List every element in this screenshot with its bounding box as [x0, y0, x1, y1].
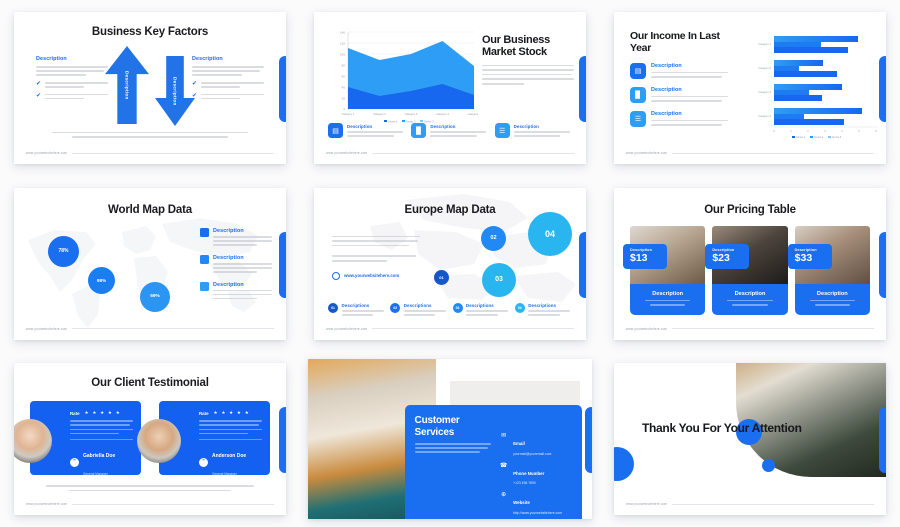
slide-footer: www.yourwebsitehere.com: [326, 151, 574, 155]
slide-thank-you[interactable]: Thank You For Your Attention www.yourweb…: [614, 363, 886, 515]
envelope-icon: ✉: [499, 432, 508, 441]
left-description-column: Description ✔ ✔: [36, 56, 108, 99]
area-chart: 140120 10080 6040 200 Category 1Category…: [328, 24, 478, 128]
edge-tab-decoration: [579, 56, 586, 122]
slide-cell-5: Europe Map Data www.yourwebsitehere.com …: [300, 176, 600, 352]
avatar: [137, 419, 181, 463]
slide-footer: www.yourwebsitehere.com: [626, 151, 874, 155]
svg-text:Category 4: Category 4: [436, 112, 449, 116]
contact-label: Phone Number: [513, 471, 544, 476]
svg-text:Category 2: Category 2: [758, 66, 771, 70]
slide-cell-2: 140120 10080 6040 200 Category 1Category…: [300, 0, 600, 176]
phone-icon: ☎: [499, 462, 508, 471]
page-title: Thank You For Your Attention: [642, 421, 802, 437]
slide-footer: www.yourwebsitehere.com: [626, 327, 874, 331]
number-bubble-label: 02: [490, 235, 496, 241]
price-tag-label: Description: [630, 248, 660, 252]
price-tag-label: Description: [795, 248, 825, 252]
author-name: Gabriella Doe: [83, 453, 115, 459]
data-bubble[interactable]: 69%: [140, 282, 170, 312]
feature-list-item[interactable]: ▤ Description: [630, 63, 728, 79]
number-bubble-01[interactable]: 01: [434, 270, 449, 285]
slide-footnote: [52, 132, 248, 138]
slide-cell-4: World Map Data 78% 98% 69% Description: [0, 176, 300, 352]
svg-text:Category 3: Category 3: [405, 112, 418, 116]
quote-icon: ”: [199, 458, 208, 467]
feature-card-row: ▤ Description ▉ Description ☰: [328, 123, 572, 138]
bottom-description-item[interactable]: 04 Descriptions: [515, 303, 572, 316]
price-tag: Description $33: [788, 244, 832, 269]
page-title: Our Pricing Table: [614, 204, 886, 216]
data-bubble[interactable]: 98%: [88, 267, 115, 294]
globe-icon: [332, 272, 340, 280]
footer-divider: [72, 328, 274, 329]
contact-label: Website: [513, 500, 530, 505]
contact-value: http://www.yourwebsitehere.com: [513, 511, 562, 515]
price-value: $33: [795, 253, 825, 264]
pricing-card[interactable]: Description Description $13: [630, 226, 705, 315]
footer-divider: [672, 153, 874, 154]
star-rating-icon: ★ ★ ★ ★ ★: [214, 410, 251, 416]
slide-cell-1: Business Key Factors Description ✔ ✔: [0, 0, 300, 176]
footer-url: www.yourwebsitehere.com: [26, 327, 67, 331]
right-description-paragraph: [192, 66, 264, 76]
price-tag: Description $23: [705, 244, 749, 269]
bottom-description-item[interactable]: 02 Descriptions: [390, 303, 447, 316]
page-title: World Map Data: [14, 204, 286, 216]
slide-cell-3: Our Income In Last Year ▤ Description ▉ …: [600, 0, 900, 176]
chart-bar-icon: ▉: [411, 123, 426, 138]
legend-item[interactable]: Description: [200, 282, 272, 300]
slide-paragraph-block: www.yourwebsitehere.com: [332, 236, 420, 280]
svg-text:100: 100: [340, 53, 345, 57]
slide-footer: www.yourwebsitehere.com: [26, 502, 274, 506]
data-bubble-value: 78%: [58, 248, 68, 254]
footer-divider: [372, 328, 574, 329]
svg-text:40: 40: [342, 86, 346, 90]
page-title: Our Client Testimonial: [14, 377, 286, 389]
edge-tab-decoration: [279, 407, 286, 473]
arrow-up-label: Description: [125, 71, 130, 100]
bottom-item-number: 02: [390, 303, 400, 313]
slide-our-pricing-table[interactable]: Our Pricing Table Description Descriptio…: [614, 188, 886, 340]
slide-footnote: [46, 485, 254, 491]
chart-bar-icon: ▉: [630, 87, 646, 103]
footer-divider: [672, 328, 874, 329]
presentation-icon: ☰: [495, 123, 510, 138]
quote-icon: ”: [70, 458, 79, 467]
bottom-description-row: 01 Descriptions 02 Descriptions 03: [328, 303, 572, 316]
right-description-column: Description ✔ ✔: [192, 56, 264, 99]
footer-divider: [72, 504, 274, 505]
svg-text:0: 0: [773, 129, 775, 133]
slide-our-client-testimonial[interactable]: Our Client Testimonial Rate ★ ★ ★ ★ ★ ”: [14, 363, 286, 515]
left-checklist-item: ✔: [36, 81, 108, 88]
data-bubble-value: 98%: [97, 278, 106, 283]
circle-decoration: [614, 447, 634, 481]
svg-text:Category 3: Category 3: [758, 90, 771, 94]
number-bubble-label: 04: [545, 229, 555, 239]
edge-tab-decoration: [279, 56, 286, 122]
office-photo: [736, 363, 886, 477]
testimonial-quote: [199, 420, 262, 434]
svg-text:0: 0: [343, 107, 345, 111]
footer-url: www.yourwebsitehere.com: [626, 502, 667, 506]
star-rating-icon: ★ ★ ★ ★ ★: [85, 410, 122, 416]
svg-text:Series 1: Series 1: [796, 136, 806, 139]
slide-customer-services[interactable]: Customer Services ✉ Email yourmail@youre…: [308, 359, 592, 519]
contact-label: Email: [513, 441, 525, 446]
slide-heading-block: Our Income In Last Year ▤ Description ▉ …: [630, 30, 728, 127]
right-description-heading: Description: [192, 56, 264, 62]
bottom-item-number: 03: [453, 303, 463, 313]
footer-url: www.yourwebsitehere.com: [626, 151, 667, 155]
svg-text:Category 2: Category 2: [373, 112, 386, 116]
svg-text:20: 20: [342, 97, 346, 101]
page-title: Customer Services: [415, 415, 492, 438]
feature-heading: Description: [651, 87, 728, 93]
rate-label: Rate: [199, 411, 209, 416]
testimonial-card[interactable]: Rate ★ ★ ★ ★ ★ ” Gabriella Doe General M…: [30, 401, 141, 475]
bottom-item-number: 01: [328, 303, 338, 313]
number-bubble-label: 01: [439, 275, 443, 280]
website-link[interactable]: www.yourwebsitehere.com: [332, 272, 420, 280]
testimonial-quote: [70, 420, 133, 434]
svg-text:Category 4: Category 4: [758, 114, 771, 118]
svg-text:Series 3: Series 3: [832, 136, 842, 139]
rate-label: Rate: [70, 411, 80, 416]
price-value: $23: [712, 253, 742, 264]
bottom-description-item[interactable]: 03 Descriptions: [453, 303, 510, 316]
author-role: General Manager: [83, 472, 108, 476]
slide-our-business-market-stock[interactable]: 140120 10080 6040 200 Category 1Category…: [314, 12, 586, 164]
svg-text:80: 80: [342, 64, 346, 68]
feature-card[interactable]: ▤ Description: [328, 123, 405, 138]
slide-footer: www.yourwebsitehere.com: [26, 327, 274, 331]
edge-tab-decoration: [879, 232, 886, 298]
number-bubble-02[interactable]: 02: [481, 226, 506, 251]
circle-decoration: [762, 459, 775, 472]
svg-text:120: 120: [340, 42, 345, 46]
page-title: Our Business Market Stock: [482, 34, 574, 59]
bottom-item-heading: Descriptions: [342, 303, 386, 308]
svg-text:140: 140: [340, 31, 345, 35]
page-title: Our Income In Last Year: [630, 30, 728, 54]
footer-url: www.yourwebsitehere.com: [326, 151, 367, 155]
svg-text:Series 2: Series 2: [814, 136, 824, 139]
contact-value: +123 456 7890: [513, 481, 544, 485]
footer-url: www.yourwebsitehere.com: [26, 151, 67, 155]
left-description-heading: Description: [36, 56, 108, 62]
feature-card[interactable]: ▉ Description: [411, 123, 488, 138]
presentation-icon: ☰: [630, 111, 646, 127]
price-tag-label: Description: [712, 248, 742, 252]
svg-text:Category 1: Category 1: [342, 112, 355, 116]
slide-cell-9: Thank You For Your Attention www.yourweb…: [600, 351, 900, 527]
number-bubble-04[interactable]: 04: [528, 212, 572, 256]
slide-footer: www.yourwebsitehere.com: [326, 327, 574, 331]
legend-item[interactable]: Description: [200, 255, 272, 273]
data-bubble[interactable]: 78%: [48, 236, 79, 267]
right-checklist-item: ✔: [192, 81, 264, 88]
pricing-card[interactable]: Description Description $23: [712, 226, 787, 315]
slide-footer: www.yourwebsitehere.com: [26, 151, 274, 155]
check-icon: ✔: [192, 93, 197, 99]
feature-list-item[interactable]: ☰ Description: [630, 111, 728, 127]
footer-url: www.yourwebsitehere.com: [26, 502, 67, 506]
pricing-card-heading: Description: [735, 291, 766, 297]
arrow-diagram: Description Description: [105, 46, 195, 126]
svg-text:60: 60: [342, 75, 346, 79]
footer-url: www.yourwebsitehere.com: [326, 327, 367, 331]
testimonial-author: ” Gabriella Doe General Manager: [70, 444, 133, 480]
footer-divider: [672, 504, 874, 505]
footer-url: www.yourwebsitehere.com: [626, 327, 667, 331]
feature-list: ▤ Description ▉ Description: [630, 63, 728, 127]
pricing-card-row: Description Description $13 Description: [630, 226, 870, 315]
bottom-item-number: 04: [515, 303, 525, 313]
right-checklist-item: ✔: [192, 93, 264, 100]
feature-heading: Description: [651, 111, 728, 117]
svg-text:6: 6: [875, 129, 877, 133]
slide-paragraph: [482, 65, 574, 85]
legend-heading: Description: [213, 255, 272, 261]
arrow-down-icon: Description: [155, 56, 195, 126]
legend-list: Description Description: [200, 228, 272, 300]
contact-email[interactable]: ✉ Email yourmail@youremail.com: [499, 432, 572, 456]
check-icon: ✔: [36, 81, 41, 87]
slide-business-key-factors[interactable]: Business Key Factors Description ✔ ✔: [14, 12, 286, 164]
contact-website[interactable]: ⊕ Website http://www.yourwebsitehere.com: [499, 491, 572, 515]
svg-text:4: 4: [841, 129, 843, 133]
author-role: General Manager: [212, 472, 237, 476]
check-icon: ✔: [192, 81, 197, 87]
feature-card[interactable]: ☰ Description: [495, 123, 572, 138]
slide-cell-6: Our Pricing Table Description Descriptio…: [600, 176, 900, 352]
slide-world-map-data[interactable]: World Map Data 78% 98% 69% Description: [14, 188, 286, 340]
card-divider: [199, 439, 262, 440]
page-title: Business Key Factors: [14, 26, 286, 38]
pricing-card[interactable]: Description Description $33: [795, 226, 870, 315]
feature-list-item[interactable]: ▉ Description: [630, 87, 728, 103]
slide-cell-7: Our Client Testimonial Rate ★ ★ ★ ★ ★ ”: [0, 351, 300, 527]
testimonial-card[interactable]: Rate ★ ★ ★ ★ ★ ” Anderson Doe General Ma…: [159, 401, 270, 475]
briefcase-icon: ▤: [328, 123, 343, 138]
testimonial-row: Rate ★ ★ ★ ★ ★ ” Gabriella Doe General M…: [30, 401, 270, 475]
price-tag: Description $13: [623, 244, 667, 269]
slide-europe-map-data[interactable]: Europe Map Data www.yourwebsitehere.com …: [314, 188, 586, 340]
contact-phone[interactable]: ☎ Phone Number +123 456 7890: [499, 462, 572, 486]
slide-footer: www.yourwebsitehere.com: [626, 502, 874, 506]
feature-card-heading: Description: [430, 124, 488, 129]
author-name: Anderson Doe: [212, 453, 246, 459]
svg-text:5: 5: [858, 129, 860, 133]
left-description-paragraph: [36, 66, 108, 76]
number-bubble-label: 03: [495, 276, 503, 283]
price-value: $13: [630, 253, 660, 264]
globe-icon: ⊕: [499, 491, 508, 500]
data-bubble-value: 69%: [150, 294, 160, 299]
slide-cell-8: Customer Services ✉ Email yourmail@youre…: [300, 351, 600, 527]
legend-swatch: [200, 255, 209, 264]
slide-heading-block: Our Business Market Stock: [482, 34, 574, 85]
left-checklist-item: ✔: [36, 93, 108, 100]
feature-card-heading: Description: [347, 124, 405, 129]
slide-our-income-in-last-year[interactable]: Our Income In Last Year ▤ Description ▉ …: [614, 12, 886, 164]
svg-text:2: 2: [807, 129, 809, 133]
arrow-up-icon: Description: [105, 46, 149, 124]
arrow-down-label: Description: [173, 77, 178, 106]
legend-heading: Description: [213, 282, 272, 288]
legend-item[interactable]: Description: [200, 228, 272, 246]
number-bubble-03[interactable]: 03: [482, 263, 516, 297]
website-link-text: www.yourwebsitehere.com: [344, 273, 399, 278]
contact-list: ✉ Email yourmail@youremail.com ☎ Phone N…: [499, 415, 572, 515]
bottom-item-heading: Descriptions: [466, 303, 510, 308]
bottom-description-item[interactable]: 01 Descriptions: [328, 303, 385, 316]
card-divider: [70, 439, 133, 440]
legend-swatch: [200, 282, 209, 291]
edge-tab-decoration: [879, 56, 886, 122]
legend-swatch: [200, 228, 209, 237]
briefcase-icon: ▤: [630, 63, 646, 79]
testimonial-author: ” Anderson Doe General Manager: [199, 444, 262, 480]
feature-card-heading: Description: [514, 124, 572, 129]
contact-value: yourmail@youremail.com: [513, 452, 551, 456]
bottom-item-heading: Descriptions: [528, 303, 572, 308]
slide-paragraph-2: [332, 255, 420, 261]
panel-paragraph: [415, 443, 492, 453]
pricing-card-heading: Description: [652, 291, 683, 297]
edge-tab-decoration: [879, 407, 886, 473]
footer-divider: [72, 153, 274, 154]
bottom-item-heading: Descriptions: [404, 303, 448, 308]
avatar: [14, 419, 52, 463]
slide-deck-grid: Business Key Factors Description ✔ ✔: [0, 0, 900, 527]
legend-heading: Description: [213, 228, 272, 234]
customer-services-panel: Customer Services ✉ Email yourmail@youre…: [405, 405, 582, 519]
footer-divider: [372, 153, 574, 154]
feature-heading: Description: [651, 63, 728, 69]
check-icon: ✔: [36, 93, 41, 99]
pricing-card-heading: Description: [817, 291, 848, 297]
svg-text:Category 1: Category 1: [758, 42, 771, 46]
edge-tab-decoration: [585, 407, 592, 473]
horizontal-bar-chart: Category 1Category 2 Category 3Category …: [744, 32, 880, 140]
svg-text:3: 3: [824, 129, 826, 133]
svg-text:1: 1: [790, 129, 792, 133]
svg-text:Category 5: Category 5: [468, 112, 478, 116]
